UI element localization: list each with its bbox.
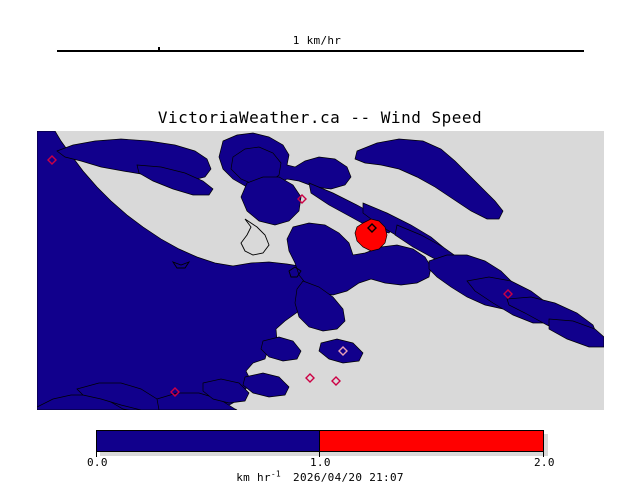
wind-vector-scale-bar: 1 km/hr bbox=[57, 38, 584, 60]
colorbar-divider bbox=[319, 430, 320, 452]
contour-band-low bbox=[37, 131, 604, 410]
scale-bar-tick bbox=[158, 47, 160, 50]
scale-bar-label: 1 km/hr bbox=[227, 34, 407, 47]
colorbar-tick-label-mid: 1.0 bbox=[310, 456, 331, 469]
colorbar-tick-label-max: 2.0 bbox=[534, 456, 555, 469]
map-canvas bbox=[37, 131, 604, 410]
page-title: VictoriaWeather.ca -- Wind Speed bbox=[0, 108, 640, 128]
colorbar-units: km hr bbox=[236, 471, 271, 484]
colorbar-segment-low bbox=[97, 431, 320, 451]
colorbar-segment-high bbox=[320, 431, 543, 451]
colorbar-units-exponent: -1 bbox=[271, 469, 281, 478]
station-marker bbox=[332, 377, 340, 385]
scale-bar-line bbox=[57, 50, 584, 52]
colorbar-units-and-timestamp: km hr-12026/04/20 21:07 bbox=[96, 471, 544, 484]
colorbar-tick-label-min: 0.0 bbox=[87, 456, 108, 469]
contour-band-high bbox=[355, 219, 387, 251]
colorbar-legend: 0.0 1.0 2.0 km hr-12026/04/20 21:07 bbox=[96, 430, 560, 476]
weather-map-page: 1 km/hr VictoriaWeather.ca -- Wind Speed bbox=[0, 0, 640, 480]
wind-speed-map[interactable] bbox=[37, 131, 604, 410]
map-timestamp: 2026/04/20 21:07 bbox=[293, 471, 404, 484]
colorbar[interactable] bbox=[96, 430, 544, 452]
station-marker bbox=[306, 374, 314, 382]
